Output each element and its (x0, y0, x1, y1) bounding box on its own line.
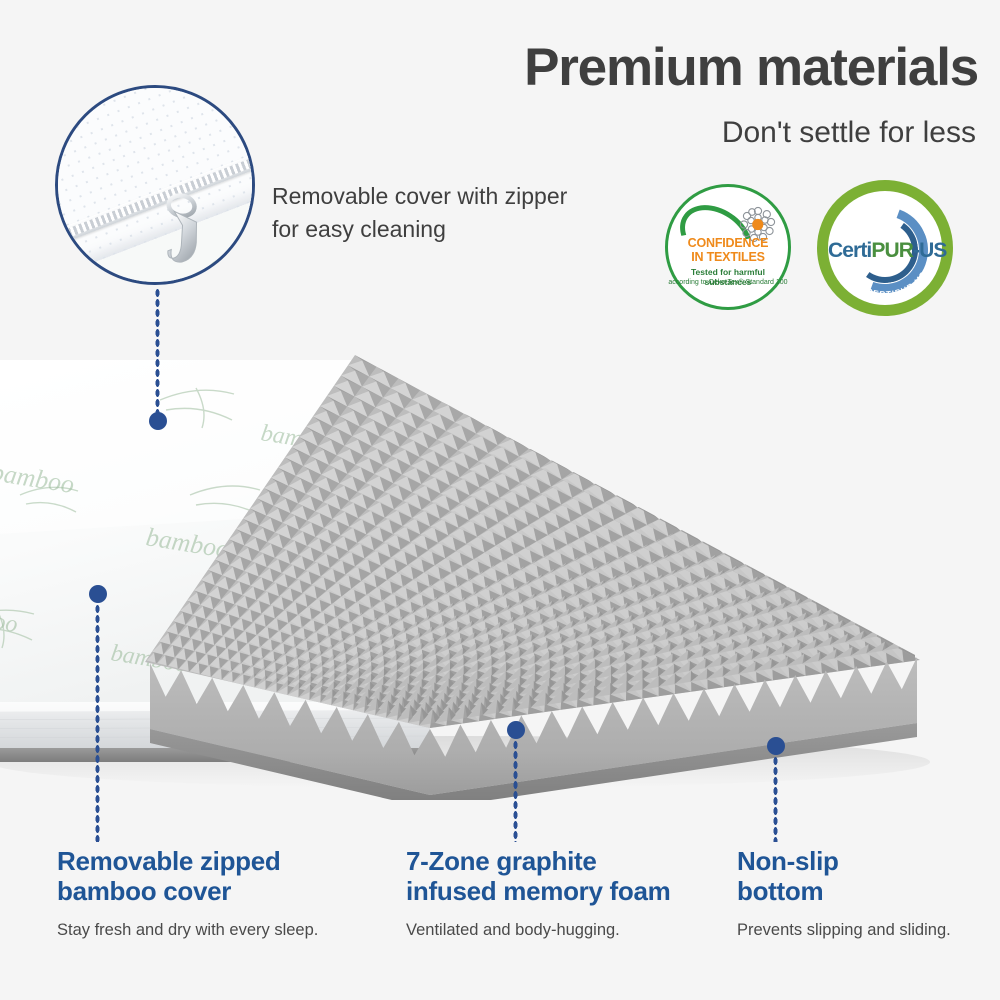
feature-7-zone-graphite-memory-foam: 7-Zone graphite infused memory foam Vent… (406, 846, 726, 941)
feature-0-caption: Stay fresh and dry with every sleep. (57, 920, 387, 941)
zipper-callout-line2: for easy cleaning (272, 216, 446, 242)
feature-2-title-line1: Non-slip (737, 846, 839, 876)
callout-dot-nonslip (767, 737, 785, 755)
feature-2-title-line2: bottom (737, 876, 823, 906)
callout-dot-cover (89, 585, 107, 603)
svg-text:WWW.CERTIPUR.US: WWW.CERTIPUR.US (841, 269, 928, 299)
zipper-detail-inset (55, 85, 255, 285)
feature-0-title: Removable zipped bamboo cover (57, 846, 387, 906)
callout-line-foam (513, 740, 518, 842)
callout-dot-zipper (149, 412, 167, 430)
page-subtitle: Don't settle for less (722, 116, 976, 150)
certipur-word-b: PUR (871, 239, 913, 262)
callout-line-cover (95, 604, 100, 842)
infographic-canvas: Premium materials Don't settle for less … (0, 0, 1000, 1000)
callout-line-nonslip (773, 756, 778, 842)
feature-non-slip-bottom: Non-slip bottom Prevents slipping and sl… (737, 846, 987, 941)
feature-0-title-line1: Removable zipped (57, 846, 280, 876)
feature-1-title-line1: 7-Zone graphite (406, 846, 597, 876)
certipur-wordmark: CertiPUR-US (828, 239, 942, 263)
zipper-callout-text: Removable cover with zipper for easy cle… (272, 180, 612, 246)
feature-0-title-line2: bamboo cover (57, 876, 231, 906)
oeko-tex-textiles-text: IN TEXTILES (691, 250, 765, 264)
feature-1-title-line2: infused memory foam (406, 876, 670, 906)
certipur-ring-bottom-label: WWW.CERTIPUR.US (841, 269, 928, 299)
oeko-tex-badge: CONFIDENCE IN TEXTILES Tested for harmfu… (665, 184, 791, 310)
callout-line-zipper (155, 288, 160, 414)
feature-1-title: 7-Zone graphite infused memory foam (406, 846, 726, 906)
zipper-callout-line1: Removable cover with zipper (272, 183, 567, 209)
certipur-us-badge: CONTAINS CERTIFIED FLEXIBLE POLYURETHANE… (817, 180, 953, 316)
feature-1-caption: Ventilated and body-hugging. (406, 920, 726, 941)
mattress-topper-illustration: bamboo bamboo bamboo bamboo bamboo bam (0, 330, 1000, 800)
oeko-tex-line1: CONFIDENCE IN TEXTILES (668, 237, 788, 264)
feature-2-title: Non-slip bottom (737, 846, 987, 906)
oeko-tex-confidence-text: CONFIDENCE (688, 236, 769, 250)
certipur-word-a: Certi (828, 239, 871, 262)
feature-removable-zipped-bamboo-cover: Removable zipped bamboo cover Stay fresh… (57, 846, 387, 941)
feature-2-caption: Prevents slipping and sliding. (737, 920, 987, 941)
oeko-tex-line4: according to Oeko-Tex® Standard 100 (668, 278, 788, 287)
certipur-word-c: -US (913, 239, 946, 262)
callout-dot-foam (507, 721, 525, 739)
page-title: Premium materials (524, 40, 978, 96)
